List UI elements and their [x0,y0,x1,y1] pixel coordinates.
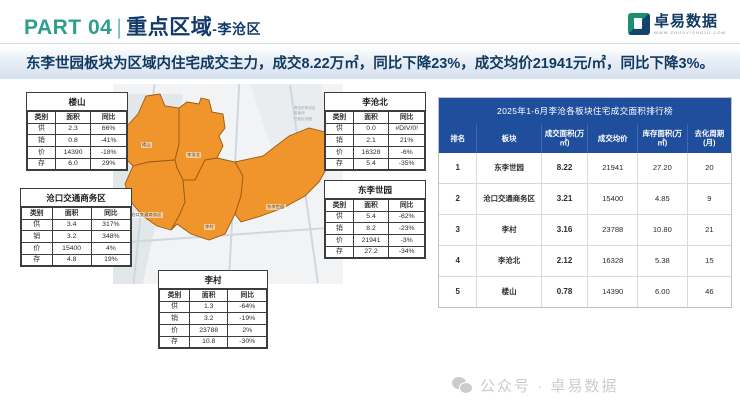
col-avg-price: 成交均价 [588,124,638,153]
col-block: 板块 [477,124,541,153]
cell-block: 李村 [477,214,541,245]
ranking-header-row: 排名 板块 成交面积(万㎡) 成交均价 库存面积(万㎡) 去化周期(月) [439,124,731,153]
cell-area: 1.3 [189,301,228,313]
cell-sold-area: 0.78 [541,276,588,307]
cell-area: 0.0 [353,123,389,135]
cell-area: 15400 [52,242,91,254]
mini-col-yoy: 同比 [91,208,130,220]
cell-area: 3.2 [52,231,91,243]
mini-table-row: 供2.366% [28,123,127,135]
table-row: 3 李村 3.16 23788 10.80 21 [439,214,731,245]
map-region-loushan [121,94,179,166]
cell-label: 存 [326,246,354,258]
cell-rank: 3 [439,214,477,245]
mini-table-cangkou: 沧口交通商务区 类别 面积 同比 供3.4317% 销3.2348% 价1540… [20,188,132,267]
cell-label: 价 [326,234,354,246]
cell-stock-area: 6.00 [638,276,688,307]
cell-destock-cycle: 9 [687,183,731,214]
logo-text: 卓易数据 WWW.ZHUOYISHUJU.COM [654,14,726,35]
cell-label: 销 [326,135,354,147]
cell-sold-area: 3.21 [541,183,588,214]
cell-label: 销 [160,313,190,325]
table-row: 2 沧口交通商务区 3.21 15400 4.85 9 [439,183,731,214]
ranking-title-row: 2025年1-6月李沧各板块住宅成交面积排行榜 [439,98,731,124]
cell-label: 供 [326,123,354,135]
cell-stock-area: 10.80 [638,214,688,245]
cell-avg-price: 16328 [588,245,638,276]
col-stock-area: 库存面积(万㎡) [638,124,688,153]
col-rank: 排名 [439,124,477,153]
map-region-cangkou [125,160,185,230]
mini-col-category: 类别 [160,290,190,302]
mini-col-category: 类别 [326,112,354,124]
cell-yoy: -41% [91,135,127,147]
mini-col-area: 面积 [353,200,389,212]
mini-table-row: 价154004% [22,242,131,254]
mini-table-row: 供5.4-62% [326,211,425,223]
cell-rank: 1 [439,153,477,184]
cell-yoy: 4% [91,242,130,254]
cell-yoy: -30% [228,336,267,348]
cell-block: 沧口交通商务区 [477,183,541,214]
mini-col-yoy: 同比 [228,290,267,302]
cell-yoy: -3% [389,234,425,246]
map-corner-note: 青岛市李沧区各板块行政区划图 [294,106,316,122]
mini-table-dongli: 东李世园 类别 面积 同比 供5.4-62% 销8.2-23% 价21941-3… [324,180,426,259]
cell-yoy: -62% [389,211,425,223]
title-subtitle: -李沧区 [212,21,261,37]
map-label-cangkou: 沧口交通商务区 [130,212,163,218]
cell-label: 价 [326,146,354,158]
cell-yoy: -35% [389,158,425,170]
cell-area: 6.0 [55,158,91,170]
mini-table-loushan: 楼山 类别 面积 同比 供2.366% 销0.8-41% 价14390-18% … [26,92,128,171]
mini-table-row: 销3.2-19% [160,313,267,325]
cell-yoy: -23% [389,223,425,235]
cell-area: 27.2 [353,246,389,258]
mini-table-row: 供1.3-64% [160,301,267,313]
mini-table-licun: 李村 类别 面积 同比 供1.3-64% 销3.2-19% 价237882% 存… [158,270,268,349]
logo-name: 卓易数据 [654,14,726,29]
cell-rank: 5 [439,276,477,307]
cell-area: 23788 [189,324,228,336]
cell-label: 价 [160,324,190,336]
cell-yoy: -34% [389,246,425,258]
cell-yoy: -18% [91,146,127,158]
mini-table-row: 供0.0#DIV/0! [326,123,425,135]
cell-rank: 4 [439,245,477,276]
cell-yoy: 19% [91,254,130,266]
cell-label: 供 [28,123,56,135]
cell-block: 李沧北 [477,245,541,276]
cell-label: 供 [22,219,53,231]
cell-yoy: -64% [228,301,267,313]
brand-logo: 卓易数据 WWW.ZHUOYISHUJU.COM [628,10,726,38]
watermark: 公众号 · 卓易数据 [452,375,618,396]
mini-table-title: 李村 [159,271,267,289]
cell-yoy: -19% [228,313,267,325]
mini-col-yoy: 同比 [91,112,127,124]
table-row: 4 李沧北 2.12 16328 5.38 15 [439,245,731,276]
cell-label: 供 [326,211,354,223]
cell-area: 14390 [55,146,91,158]
cell-label: 存 [22,254,53,266]
cell-rank: 2 [439,183,477,214]
cell-area: 3.2 [189,313,228,325]
mini-col-area: 面积 [55,112,91,124]
cell-label: 供 [160,301,190,313]
col-sold-area: 成交面积(万㎡) [541,124,588,153]
map-label-licun: 李村 [204,224,215,230]
cell-label: 销 [28,135,56,147]
summary-banner-text: 东李世园板块为区域内住宅成交主力，成交8.22万㎡，同比下降23%，成交均价21… [26,52,714,73]
cell-block: 东李世园 [477,153,541,184]
mini-table-row: 价21941-3% [326,234,425,246]
map-panel: 楼山 李沧北 东李世园 沧口交通商务区 李村 青岛市李沧区各板块行政区划图 楼山… [8,84,428,364]
title-divider: | [116,16,122,39]
mini-table-title: 沧口交通商务区 [21,189,131,207]
logo-mark-icon [628,13,650,35]
mini-col-category: 类别 [22,208,53,220]
cell-area: 5.4 [353,158,389,170]
cell-yoy: 348% [91,231,130,243]
summary-banner: 东李世园板块为区域内住宅成交主力，成交8.22万㎡，同比下降23%，成交均价21… [0,46,740,79]
cell-area: 3.4 [52,219,91,231]
mini-table-title: 李沧北 [325,93,425,111]
header-divider [0,43,740,44]
cell-area: 21941 [353,234,389,246]
mini-table-row: 销0.8-41% [28,135,127,147]
mini-col-area: 面积 [189,290,228,302]
map-label-dongli: 东李世园 [266,204,286,210]
cell-avg-price: 14390 [588,276,638,307]
mini-table-row: 存6.029% [28,158,127,170]
cell-yoy: 317% [91,219,130,231]
cell-label: 销 [22,231,53,243]
cell-sold-area: 8.22 [541,153,588,184]
cell-avg-price: 15400 [588,183,638,214]
cell-yoy: 29% [91,158,127,170]
cell-block: 楼山 [477,276,541,307]
cell-label: 存 [28,158,56,170]
page-title: PART 04|重点区域-李沧区 [24,11,261,41]
mini-table-row: 销8.2-23% [326,223,425,235]
cell-sold-area: 3.16 [541,214,588,245]
mini-table-row: 存10.8-30% [160,336,267,348]
cell-stock-area: 4.85 [638,183,688,214]
part-number: PART 04 [24,16,112,39]
mini-table-row: 销3.2348% [22,231,131,243]
cell-destock-cycle: 15 [687,245,731,276]
cell-area: 10.8 [189,336,228,348]
mini-col-area: 面积 [353,112,389,124]
mini-col-category: 类别 [28,112,56,124]
cell-area: 5.4 [353,211,389,223]
mini-col-category: 类别 [326,200,354,212]
cell-destock-cycle: 21 [687,214,731,245]
cell-sold-area: 2.12 [541,245,588,276]
cell-area: 16328 [353,146,389,158]
cell-avg-price: 23788 [588,214,638,245]
map-label-licangbei: 李沧北 [186,152,201,158]
mini-table-row: 价237882% [160,324,267,336]
watermark-text: 公众号 · 卓易数据 [480,375,618,396]
ranking-title: 2025年1-6月李沧各板块住宅成交面积排行榜 [439,98,731,124]
cell-label: 价 [28,146,56,158]
cell-destock-cycle: 20 [687,153,731,184]
col-destock-cycle: 去化周期(月) [687,124,731,153]
cell-area: 8.2 [353,223,389,235]
mini-table-row: 销2.121% [326,135,425,147]
cell-yoy: -6% [389,146,425,158]
mini-table-row: 价14390-18% [28,146,127,158]
mini-table-licangbei: 李沧北 类别 面积 同比 供0.0#DIV/0! 销2.121% 价16328-… [324,92,426,171]
cell-area: 4.8 [52,254,91,266]
map-label-loushan: 楼山 [141,142,152,148]
mini-table-row: 存27.2-34% [326,246,425,258]
cell-yoy: 21% [389,135,425,147]
wechat-icon [452,377,473,394]
cell-yoy: #DIV/0! [389,123,425,135]
mini-table-title: 东李世园 [325,181,425,199]
cell-yoy: 66% [91,123,127,135]
table-row: 5 楼山 0.78 14390 6.00 46 [439,276,731,307]
mini-table-row: 存4.819% [22,254,131,266]
mini-col-area: 面积 [52,208,91,220]
cell-stock-area: 27.20 [638,153,688,184]
cell-yoy: 2% [228,324,267,336]
ranking-table: 2025年1-6月李沧各板块住宅成交面积排行榜 排名 板块 成交面积(万㎡) 成… [438,97,732,308]
title-main: 重点区域 [126,16,212,39]
mini-table-row: 供3.4317% [22,219,131,231]
cell-stock-area: 5.38 [638,245,688,276]
mini-table-title: 楼山 [27,93,127,111]
table-row: 1 东李世园 8.22 21941 27.20 20 [439,153,731,184]
cell-area: 0.8 [55,135,91,147]
cell-area: 2.1 [353,135,389,147]
mini-table-row: 存5.4-35% [326,158,425,170]
mini-col-yoy: 同比 [389,112,425,124]
cell-label: 价 [22,242,53,254]
cell-destock-cycle: 46 [687,276,731,307]
cell-area: 2.3 [55,123,91,135]
mini-table-row: 价16328-6% [326,146,425,158]
logo-url: WWW.ZHUOYISHUJU.COM [654,31,726,35]
cell-label: 销 [326,223,354,235]
mini-col-yoy: 同比 [389,200,425,212]
cell-label: 存 [326,158,354,170]
cell-label: 存 [160,336,190,348]
page-header: PART 04|重点区域-李沧区 卓易数据 WWW.ZHUOYISHUJU.CO… [0,0,740,44]
cell-avg-price: 21941 [588,153,638,184]
